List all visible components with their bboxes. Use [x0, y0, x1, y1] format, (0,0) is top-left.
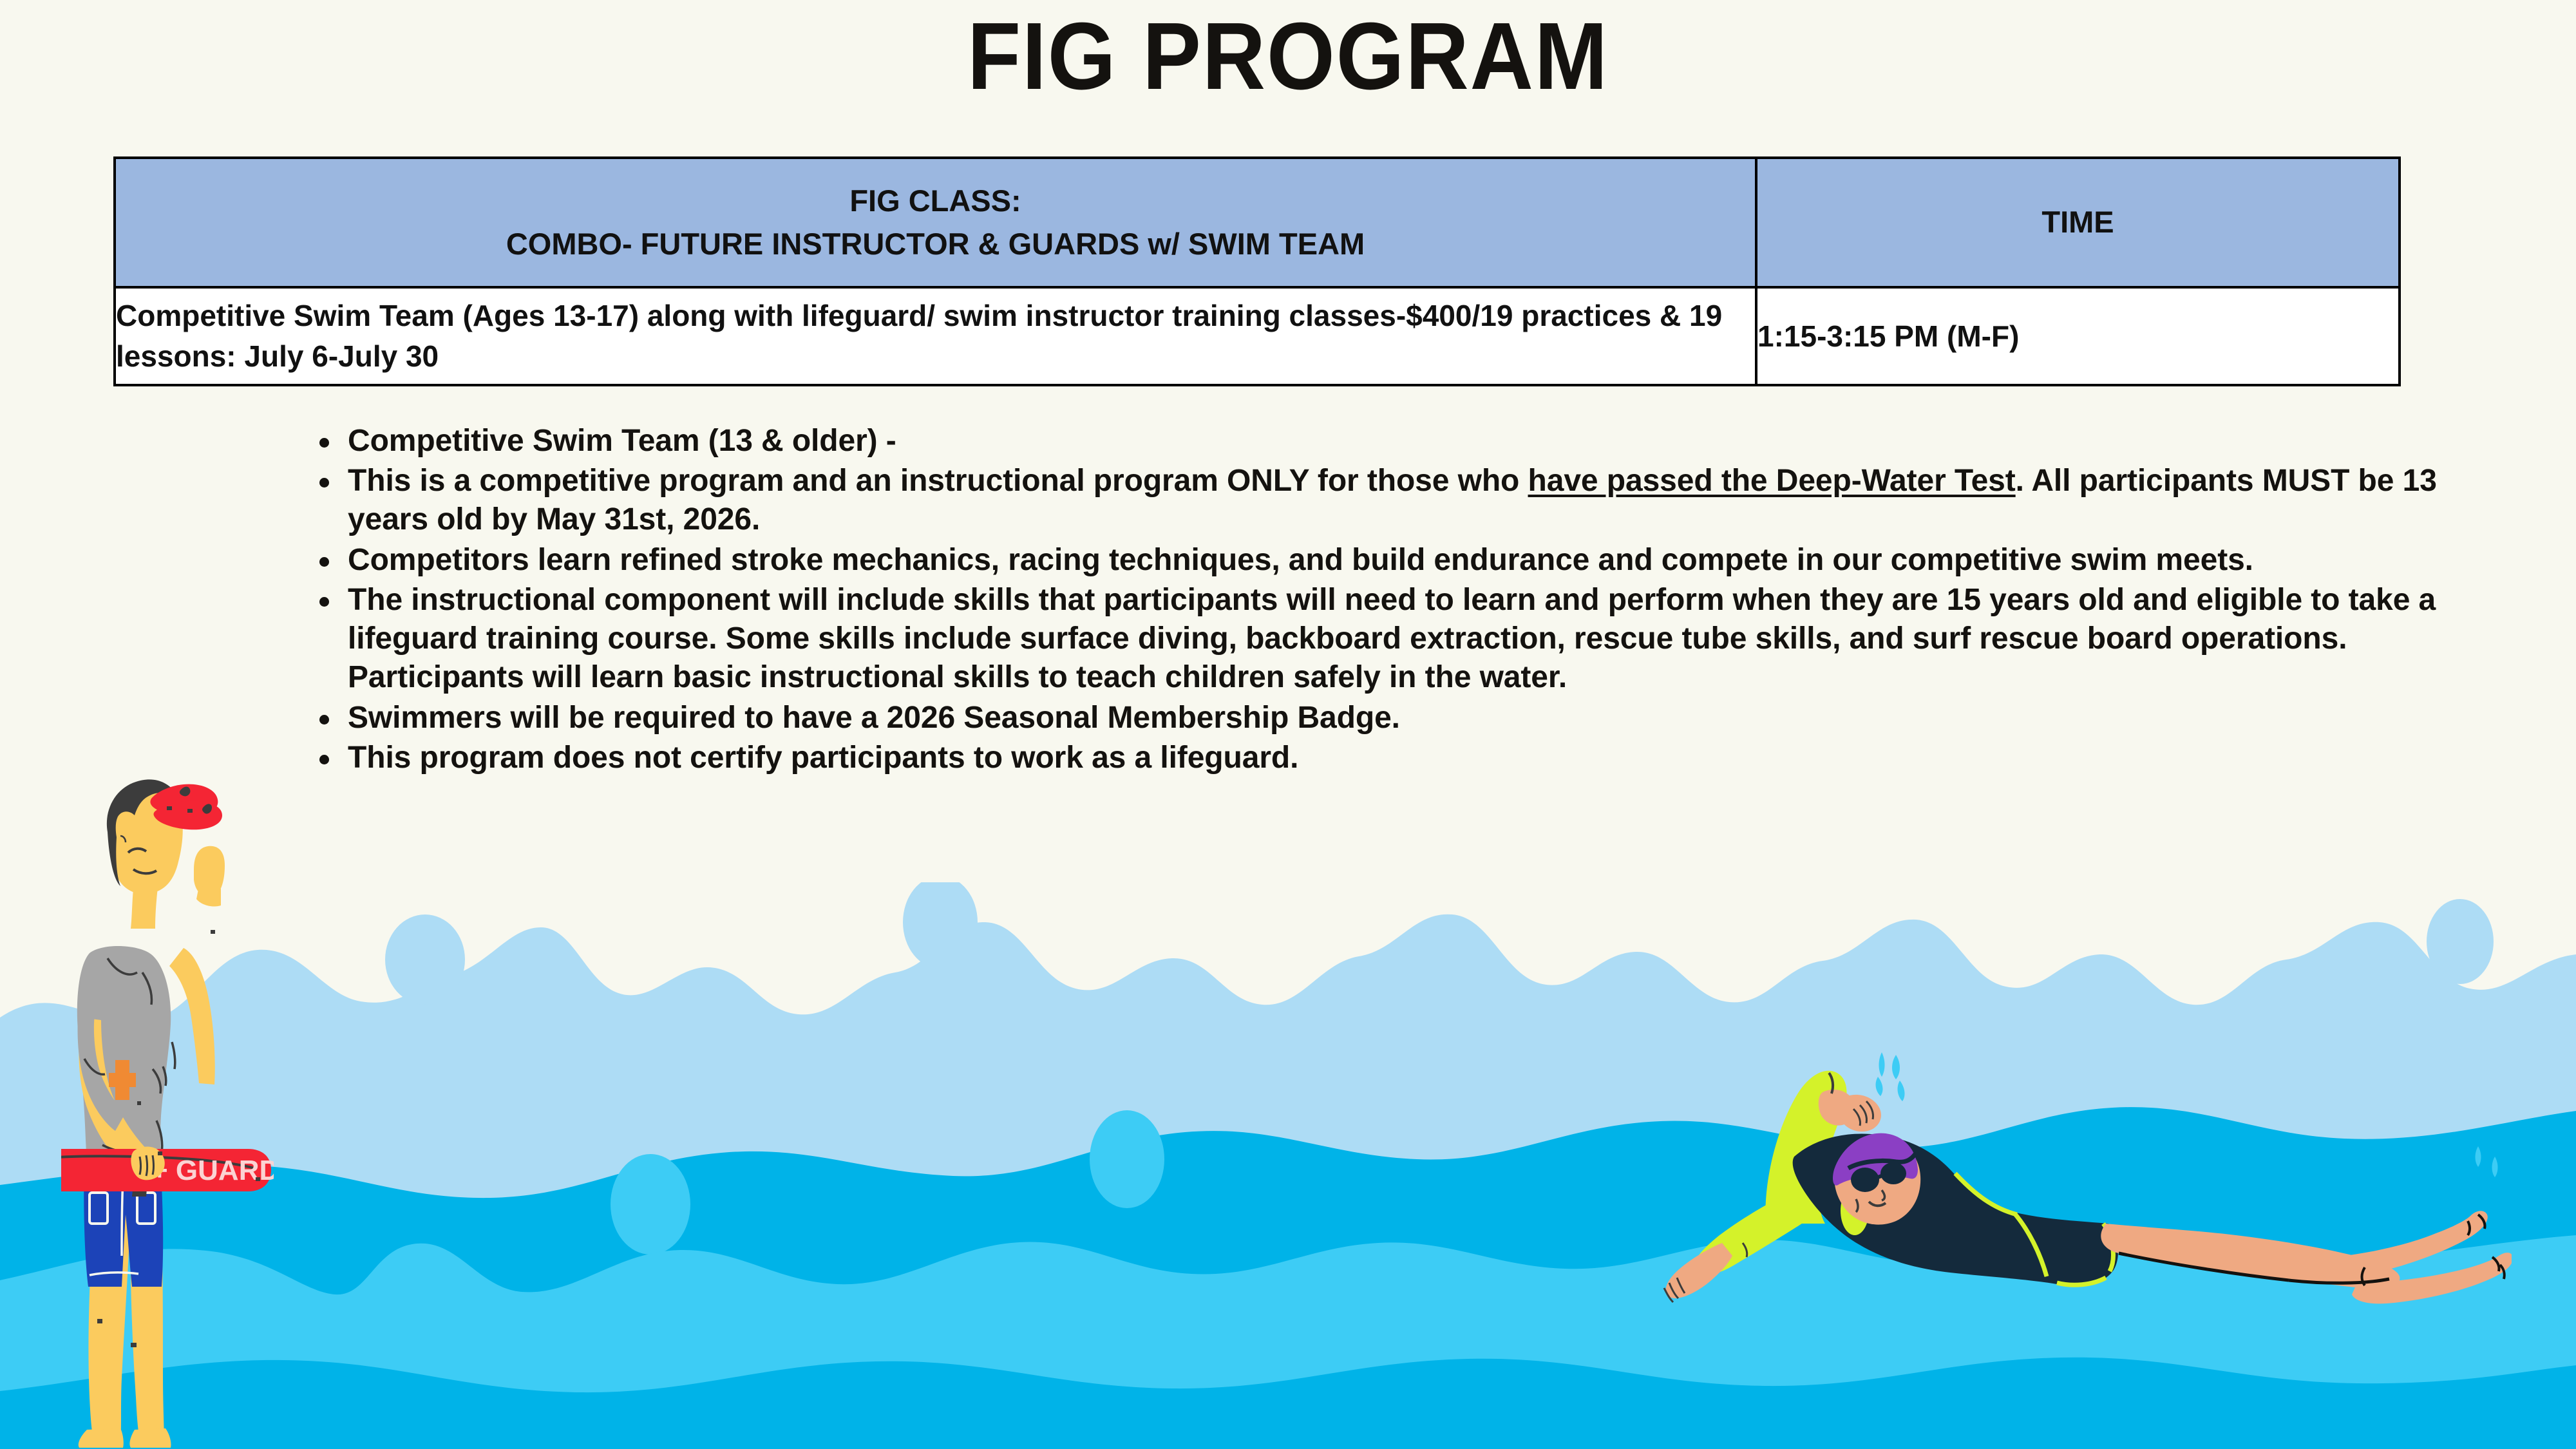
- bullet-stroke-mechanics: Competitors learn refined stroke mechani…: [348, 541, 2473, 580]
- cell-class-description: Competitive Swim Team (Ages 13-17) along…: [115, 287, 1756, 385]
- bullet-text: The instructional component will include…: [348, 583, 2436, 694]
- water-bubble: [385, 914, 465, 1005]
- column-header-fig-class-line2: COMBO- FUTURE INSTRUCTOR & GUARDS w/ SWI…: [116, 223, 1755, 266]
- underlined-text: have passed the Deep-Water Test: [1528, 464, 2016, 498]
- table-row: Competitive Swim Team (Ages 13-17) along…: [115, 287, 2400, 385]
- water-bubble: [611, 1154, 690, 1255]
- bullet-deep-water-test: This is a competitive program and an ins…: [348, 462, 2473, 539]
- bullet-text: Swimmers will be required to have a 2026…: [348, 701, 1400, 735]
- bullet-text: Competitive Swim Team (13 & older) -: [348, 424, 896, 458]
- bullet-program-title: Competitive Swim Team (13 & older) -: [348, 422, 2473, 460]
- column-header-fig-class-line1: FIG CLASS:: [116, 180, 1755, 223]
- swimmer-illustration: [1629, 1030, 2512, 1365]
- page-title: FIG PROGRAM: [103, 9, 2473, 104]
- goggle-lens: [1851, 1168, 1879, 1192]
- column-header-time: TIME: [1756, 158, 2400, 287]
- table-header-row: FIG CLASS: COMBO- FUTURE INSTRUCTOR & GU…: [115, 158, 2400, 287]
- rescue-tube: + GUARD: [61, 1149, 274, 1191]
- rescue-tube-label: + GUARD: [151, 1155, 274, 1186]
- bullet-text: This program does not certify participan…: [348, 741, 1298, 775]
- cell-class-time: 1:15-3:15 PM (M-F): [1756, 287, 2400, 385]
- bullet-text: Competitors learn refined stroke mechani…: [348, 543, 2253, 577]
- bullet-instructional-component: The instructional component will include…: [348, 581, 2473, 697]
- swimmer-legs: [2101, 1211, 2512, 1303]
- lifeguard-illustration: + GUARD: [61, 760, 274, 1449]
- program-details-list: Competitive Swim Team (13 & older) -This…: [303, 422, 2473, 779]
- lifeguard-raised-arm: [169, 846, 225, 1084]
- column-header-fig-class: FIG CLASS: COMBO- FUTURE INSTRUCTOR & GU…: [115, 158, 1756, 287]
- bullet-no-certification: This program does not certify participan…: [348, 739, 2473, 777]
- water-splash: [1876, 1052, 2498, 1177]
- water-bubble: [1090, 1110, 1164, 1208]
- bullet-membership-badge: Swimmers will be required to have a 2026…: [348, 699, 2473, 737]
- water-bubble: [2427, 899, 2494, 984]
- swimmer-lower-arm: [1664, 1188, 1810, 1302]
- schedule-table: FIG CLASS: COMBO- FUTURE INSTRUCTOR & GU…: [113, 156, 2401, 386]
- lifeguard-hand: [131, 1147, 164, 1180]
- bullet-text: This is a competitive program and an ins…: [348, 464, 1528, 498]
- lifeguard-shirt: [77, 946, 175, 1177]
